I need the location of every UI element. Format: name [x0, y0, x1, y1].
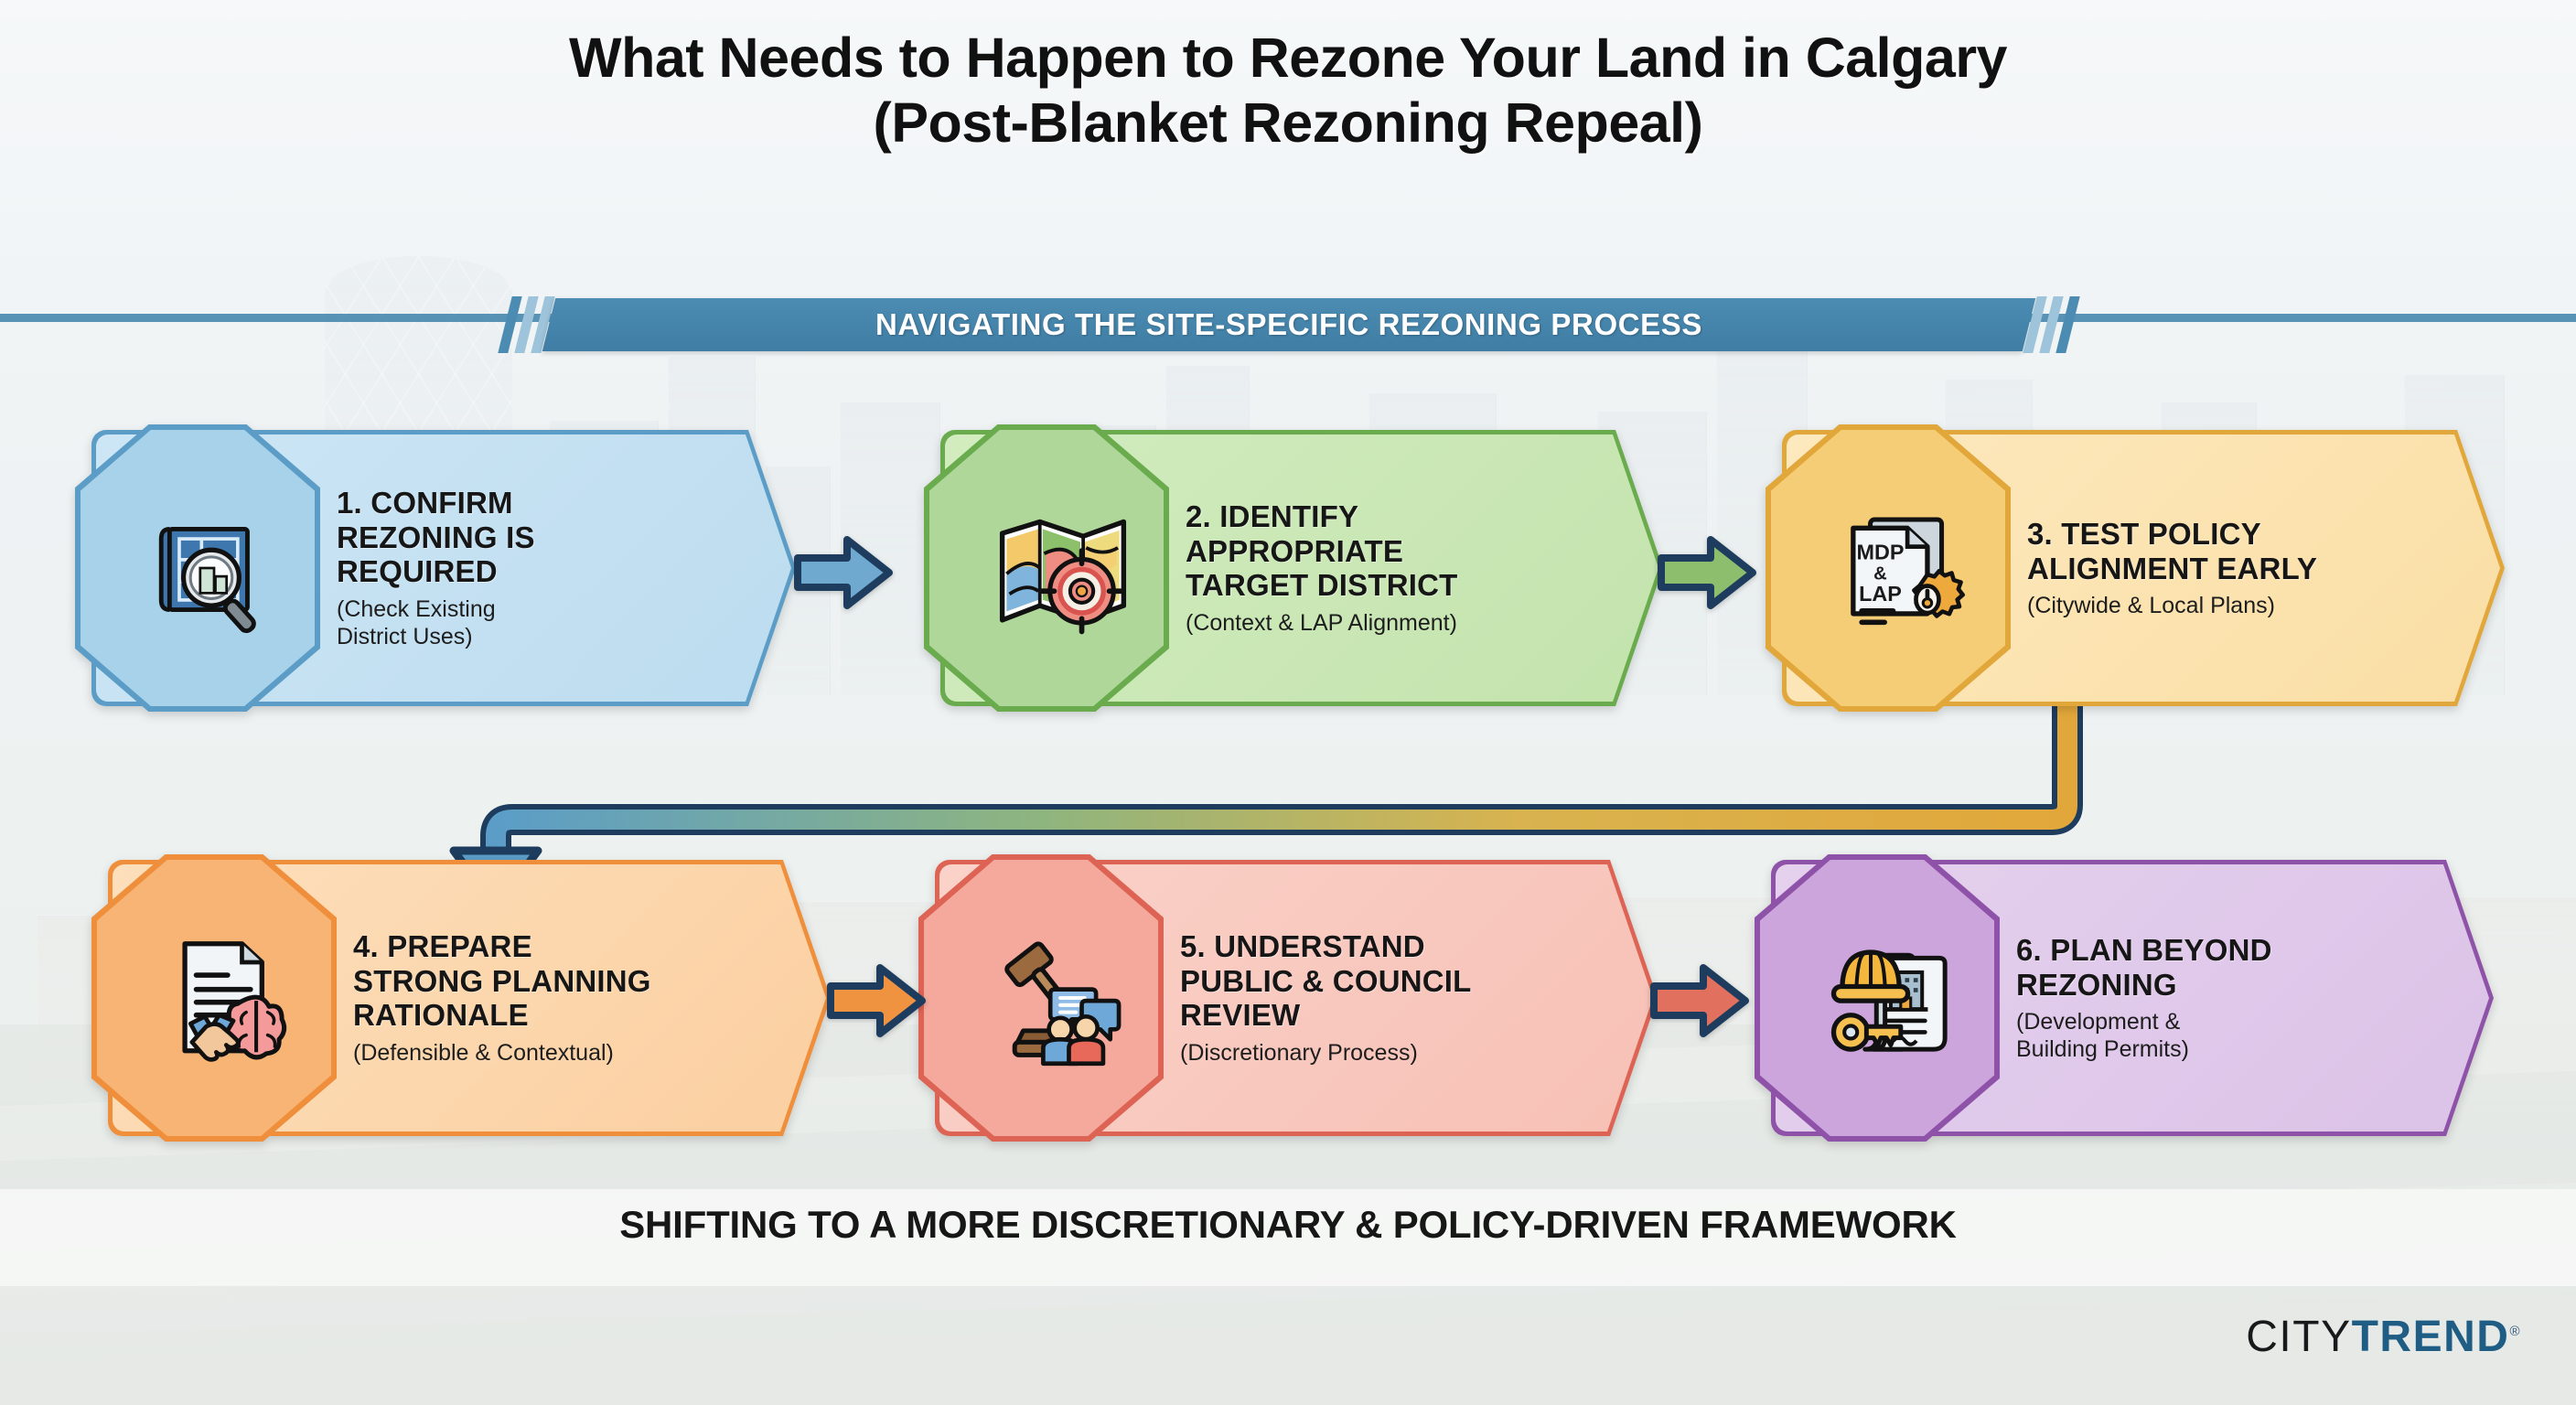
step-2-text: 2. IDENTIFYAPPROPRIATETARGET DISTRICT (C…: [1186, 430, 1608, 706]
step-5-heading: 5. UNDERSTANDPUBLIC & COUNCILREVIEW: [1180, 929, 1603, 1033]
step-2-heading: 2. IDENTIFYAPPROPRIATETARGET DISTRICT: [1186, 499, 1608, 603]
page-title: What Needs to Happen to Rezone Your Land…: [0, 26, 2576, 156]
mdp-label: MDP: [1856, 541, 1904, 564]
arrow-step4-to-step5: [827, 959, 926, 1043]
step-2[interactable]: 2. IDENTIFYAPPROPRIATETARGET DISTRICT (C…: [940, 430, 1663, 706]
wrap-arrow-step3-to-step4: [476, 713, 2086, 878]
title-line-2: (Post-Blanket Rezoning Repeal): [0, 91, 2576, 156]
step-3-heading: 3. TEST POLICYALIGNMENT EARLY: [2027, 517, 2450, 585]
footer-tagline: SHIFTING TO A MORE DISCRETIONARY & POLIC…: [0, 1203, 2576, 1247]
document-handshake-brain-icon: [108, 860, 353, 1136]
banner-title: NAVIGATING THE SITE-SPECIFIC REZONING PR…: [498, 298, 2080, 351]
step-6-text: 6. PLAN BEYONDREZONING (Development &Bui…: [2016, 860, 2439, 1136]
logo-city-text: CITY: [2246, 1313, 2351, 1361]
step-4-subtext: (Defensible & Contextual): [353, 1039, 776, 1067]
title-line-1: What Needs to Happen to Rezone Your Land…: [0, 26, 2576, 91]
step-1-subtext: (Check ExistingDistrict Uses): [337, 595, 741, 650]
step-1-heading: 1. CONFIRMREZONING ISREQUIRED: [337, 486, 741, 589]
process-flow-diagram: 1. CONFIRMREZONING ISREQUIRED (Check Exi…: [0, 0, 2576, 1405]
step-4[interactable]: 4. PREPARESTRONG PLANNINGRATIONALE (Defe…: [108, 860, 831, 1136]
logo-trend-text: TREND: [2352, 1313, 2510, 1361]
arrow-step5-to-step6: [1650, 959, 1749, 1043]
step-5[interactable]: 5. UNDERSTANDPUBLIC & COUNCILREVIEW (Dis…: [935, 860, 1658, 1136]
map-target-icon: [940, 430, 1186, 706]
step-4-heading: 4. PREPARESTRONG PLANNINGRATIONALE: [353, 929, 776, 1033]
step-6-heading: 6. PLAN BEYONDREZONING: [2016, 933, 2439, 1002]
step-5-subtext: (Discretionary Process): [1180, 1039, 1603, 1067]
citytrend-logo[interactable]: CITYTREND®: [2246, 1312, 2521, 1362]
blueprint-magnifier-icon: [91, 430, 337, 706]
step-1[interactable]: 1. CONFIRMREZONING ISREQUIRED (Check Exi…: [91, 430, 796, 706]
step-3-text: 3. TEST POLICYALIGNMENT EARLY (Citywide …: [2027, 430, 2450, 706]
step-6[interactable]: 6. PLAN BEYONDREZONING (Development &Bui…: [1771, 860, 2494, 1136]
step-2-subtext: (Context & LAP Alignment): [1186, 609, 1608, 637]
step-4-text: 4. PREPARESTRONG PLANNINGRATIONALE (Defe…: [353, 860, 776, 1136]
step-6-subtext: (Development &Building Permits): [2016, 1008, 2439, 1063]
banner: NAVIGATING THE SITE-SPECIFIC REZONING PR…: [498, 298, 2080, 351]
step-1-text: 1. CONFIRMREZONING ISREQUIRED (Check Exi…: [337, 430, 741, 706]
step-3-subtext: (Citywide & Local Plans): [2027, 592, 2450, 619]
step-3[interactable]: MDP & LAP 3. TEST POLICYALIGNMENT EARLY …: [1782, 430, 2505, 706]
hardhat-key-blueprint-icon: [1771, 860, 2016, 1136]
registered-trademark-icon: ®: [2509, 1324, 2521, 1339]
step-5-text: 5. UNDERSTANDPUBLIC & COUNCILREVIEW (Dis…: [1180, 860, 1603, 1136]
arrow-step2-to-step3: [1658, 531, 1756, 615]
mdp-lap-documents-gear-icon: MDP & LAP: [1782, 430, 2027, 706]
lap-label: LAP: [1859, 582, 1902, 606]
arrow-step1-to-step2: [794, 531, 893, 615]
gavel-people-speech-icon: [935, 860, 1180, 1136]
